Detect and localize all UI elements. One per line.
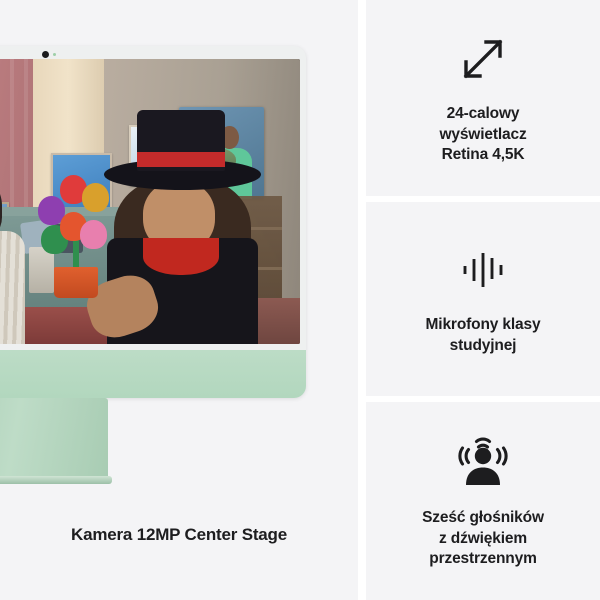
feature-card-display-line-1: 24-calowy — [439, 104, 526, 125]
camera-feature-caption: Kamera 12MP Center Stage — [0, 525, 358, 545]
product-feature-screenshot: Kamera 12MP Center Stage 24-calowy wyświ… — [0, 0, 600, 600]
audio-waveform-icon — [452, 241, 514, 299]
feature-card-display-label: 24-calowy wyświetlacz Retina 4,5K — [439, 104, 526, 166]
feature-card-speakers: Sześć głośników z dźwiękiem przestrzenny… — [366, 402, 600, 600]
scene-flower-3 — [82, 183, 109, 212]
camera-dot-icon — [42, 51, 49, 58]
imac-chin — [0, 350, 306, 398]
scene-person-clapping — [0, 173, 29, 344]
feature-card-microphones-line-2: studyjnej — [426, 336, 541, 357]
feature-card-microphones-label: Mikrofony klasy studyjnej — [426, 315, 541, 356]
camera-feature-panel: Kamera 12MP Center Stage — [0, 0, 358, 600]
feature-card-display-line-2: wyświetlacz — [439, 125, 526, 146]
camera-led-icon — [53, 53, 56, 56]
imac-display — [0, 59, 300, 344]
feature-card-speakers-line-1: Sześć głośników — [422, 508, 544, 529]
feature-cards-column: 24-calowy wyświetlacz Retina 4,5K Mikrof… — [366, 0, 600, 600]
scene-person-clapping-body — [0, 231, 25, 344]
feature-card-speakers-label: Sześć głośników z dźwiękiem przestrzenny… — [422, 508, 544, 570]
feature-card-display-line-3: Retina 4,5K — [439, 145, 526, 166]
feature-card-speakers-line-3: przestrzennym — [422, 549, 544, 570]
scene-child-hat-band — [137, 152, 225, 166]
imac-device — [0, 46, 306, 398]
scene-flower-5 — [80, 220, 107, 249]
spatial-audio-person-icon — [452, 432, 514, 490]
scene-flower-bouquet — [37, 167, 115, 298]
feature-card-microphones: Mikrofony klasy studyjnej — [366, 202, 600, 396]
feature-card-speakers-line-2: z dźwiękiem — [422, 529, 544, 550]
scene-child-magician — [101, 107, 265, 344]
scene-child-collar — [143, 238, 218, 276]
facetime-scene — [0, 59, 300, 344]
imac-stand-foot — [0, 476, 112, 484]
imac-stand — [0, 398, 108, 480]
feature-card-display: 24-calowy wyświetlacz Retina 4,5K — [366, 0, 600, 196]
scene-flower-pot — [54, 267, 98, 298]
imac-body — [0, 46, 306, 398]
expand-diagonal-arrows-icon — [452, 30, 514, 88]
feature-card-microphones-line-1: Mikrofony klasy — [426, 315, 541, 336]
